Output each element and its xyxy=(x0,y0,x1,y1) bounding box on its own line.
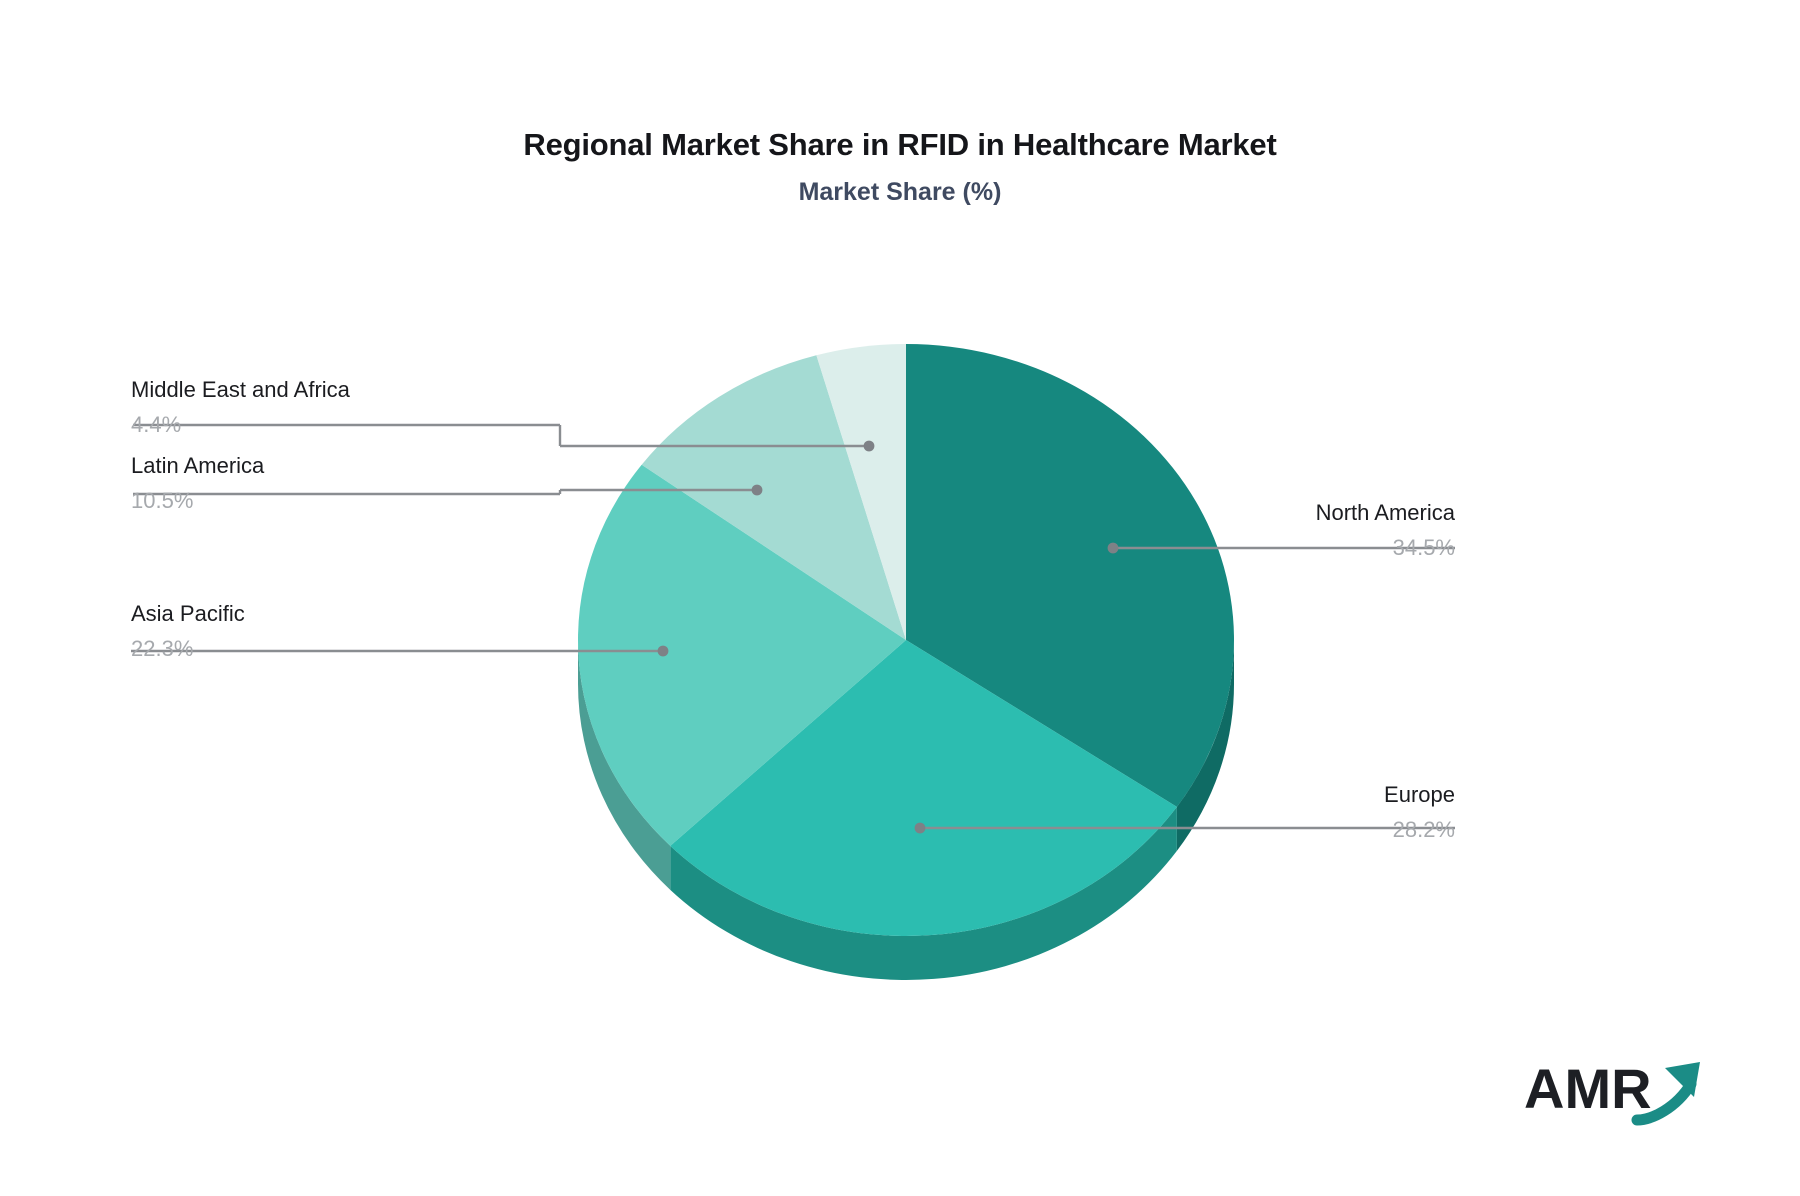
amr-logo-text: AMR xyxy=(1524,1057,1652,1120)
callout-middle-east-and-africa: Middle East and Africa4.4% xyxy=(131,377,350,438)
callout-latin-america: Latin America10.5% xyxy=(131,453,264,514)
leader-dot-north-america xyxy=(1108,543,1119,554)
leader-dot-europe xyxy=(915,823,926,834)
callout-value-europe: 28.2% xyxy=(1384,808,1455,843)
callout-label-middle-east-and-africa: Middle East and Africa xyxy=(131,377,350,403)
callout-north-america: North America34.5% xyxy=(1316,500,1455,561)
callout-label-latin-america: Latin America xyxy=(131,453,264,479)
callout-value-middle-east-and-africa: 4.4% xyxy=(131,403,350,438)
leader-dot-middle-east-and-africa xyxy=(864,441,875,452)
callout-europe: Europe28.2% xyxy=(1384,782,1455,843)
leader-dot-latin-america xyxy=(752,485,763,496)
pie-top-slices xyxy=(578,344,1234,936)
callout-label-north-america: North America xyxy=(1316,500,1455,526)
leader-dot-asia-pacific xyxy=(658,646,669,657)
callout-label-asia-pacific: Asia Pacific xyxy=(131,601,245,627)
callout-asia-pacific: Asia Pacific22.3% xyxy=(131,601,245,662)
callout-value-north-america: 34.5% xyxy=(1316,526,1455,561)
pie-chart-figure: Regional Market Share in RFID in Healthc… xyxy=(0,0,1800,1196)
callout-value-asia-pacific: 22.3% xyxy=(131,627,245,662)
amr-logo: AMR xyxy=(1524,1050,1714,1130)
pie-svg-canvas xyxy=(0,0,1800,1196)
callout-value-latin-america: 10.5% xyxy=(131,479,264,514)
callout-label-europe: Europe xyxy=(1384,782,1455,808)
